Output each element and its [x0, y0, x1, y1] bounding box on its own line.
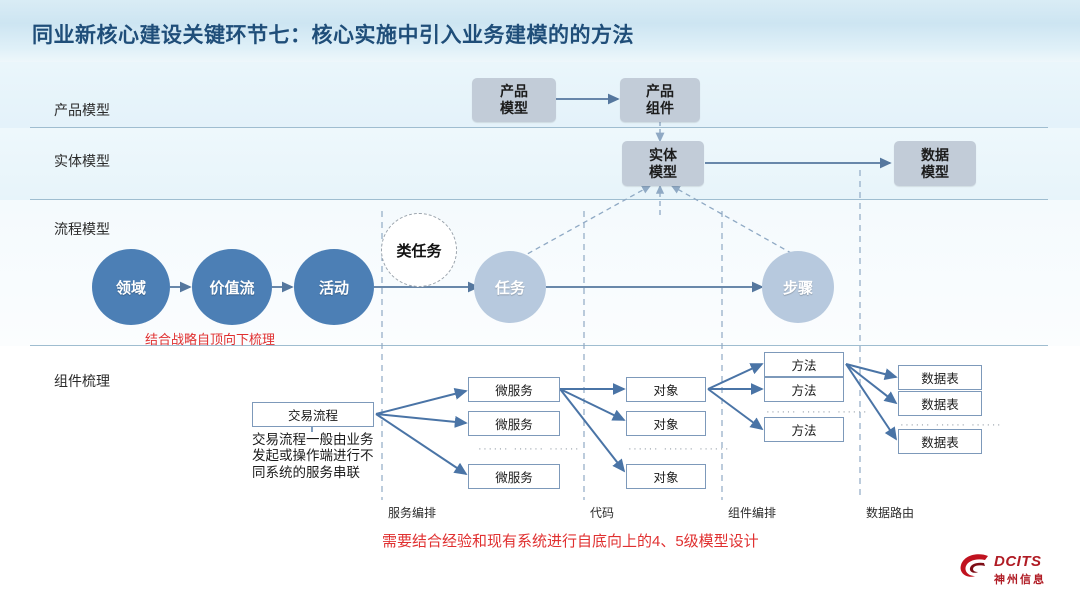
logo-text-group: DCITS 神州信息 — [994, 553, 1046, 587]
box-product-component-line1: 产品 — [646, 83, 674, 99]
note-top-down-strategy: 结合战略自顶向下梳理 — [145, 329, 275, 348]
box-entity-model[interactable]: 实体 模型 — [622, 141, 704, 186]
logo-dcits: DCITS 神州信息 — [958, 552, 1070, 596]
circle-step[interactable]: 步骤 — [762, 251, 834, 323]
box-data-table-2[interactable]: 数据表 — [898, 391, 982, 416]
box-transaction-flow[interactable]: 交易流程 — [252, 402, 374, 427]
ellipsis-object: ······ ······ ······ — [628, 443, 730, 455]
box-product-model-line1: 产品 — [500, 83, 528, 99]
circle-activity[interactable]: 活动 — [294, 249, 374, 325]
circle-domain[interactable]: 领域 — [92, 249, 170, 325]
dcits-mark-icon — [958, 552, 992, 584]
ellipsis-microservice: ······ ······ ······ — [478, 443, 580, 455]
logo-text-en: DCITS — [994, 553, 1046, 570]
box-entity-model-line1: 实体 — [649, 147, 677, 163]
box-data-table-1[interactable]: 数据表 — [898, 365, 982, 390]
box-product-component-line2: 组件 — [646, 100, 674, 116]
box-method-2[interactable]: 方法 — [764, 377, 844, 402]
box-object-3[interactable]: 对象 — [626, 464, 706, 489]
circle-task-class[interactable]: 类任务 — [381, 213, 457, 287]
note-transaction-flow-description: 交易流程一般由业务发起或操作端进行不同系统的服务串联 — [252, 432, 376, 481]
box-data-model-line2: 模型 — [921, 164, 949, 180]
box-product-model[interactable]: 产品 模型 — [472, 78, 556, 122]
circle-value-stream[interactable]: 价值流 — [192, 249, 272, 325]
box-method-3[interactable]: 方法 — [764, 417, 844, 442]
box-object-2[interactable]: 对象 — [626, 411, 706, 436]
box-data-model-line1: 数据 — [921, 147, 949, 163]
slide-canvas: 同业新核心建设关键环节七：核心实施中引入业务建模的的方法 产品模型 实体模型 流… — [0, 0, 1080, 608]
column-label-code: 代码 — [590, 504, 614, 521]
logo-text-cn: 神州信息 — [994, 571, 1046, 587]
column-label-data-routing: 数据路由 — [866, 504, 914, 521]
circle-task[interactable]: 任务 — [474, 251, 546, 323]
note-bottom-up-design: 需要结合经验和现有系统进行自底向上的4、5级模型设计 — [382, 530, 759, 551]
box-object-1[interactable]: 对象 — [626, 377, 706, 402]
box-microservice-2[interactable]: 微服务 — [468, 411, 560, 436]
box-data-table-3[interactable]: 数据表 — [898, 429, 982, 454]
box-microservice-1[interactable]: 微服务 — [468, 377, 560, 402]
box-microservice-3[interactable]: 微服务 — [468, 464, 560, 489]
box-data-model[interactable]: 数据 模型 — [894, 141, 976, 186]
box-entity-model-line2: 模型 — [649, 164, 677, 180]
box-product-component[interactable]: 产品 组件 — [620, 78, 700, 122]
column-label-service-orchestration: 服务编排 — [388, 504, 436, 521]
box-method-1[interactable]: 方法 — [764, 352, 844, 377]
box-product-model-line2: 模型 — [500, 100, 528, 116]
column-label-component-orchestration: 组件编排 — [728, 504, 776, 521]
